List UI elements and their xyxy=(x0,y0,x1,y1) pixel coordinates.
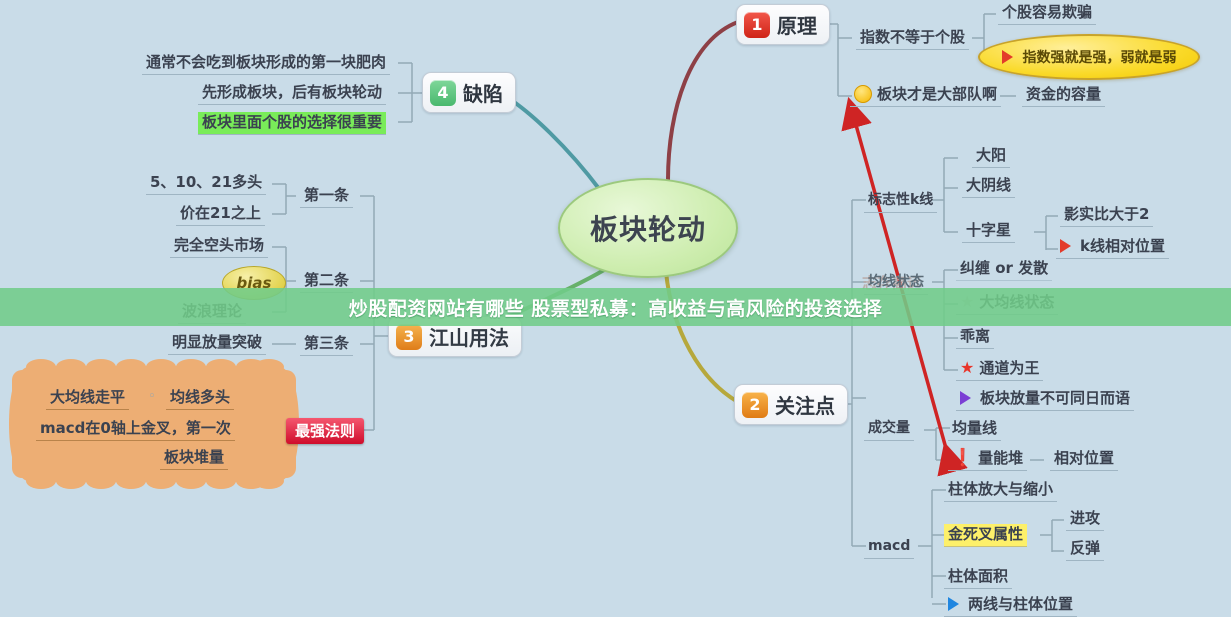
play-triangle-blue-icon xyxy=(948,597,959,611)
branch-principle[interactable]: 1 原理 xyxy=(736,4,830,45)
branch-flaw-label: 缺陷 xyxy=(463,78,503,107)
node-ma-item-3[interactable]: 乖离 xyxy=(956,326,994,349)
node-macd-item-2[interactable]: 金死叉属性 xyxy=(944,524,1027,547)
node-strongest-item-1[interactable]: 大均线走平 xyxy=(46,387,129,410)
mindmap-canvas: 志存高远 板块轮动 1 原理 指数不等于个股 个股容易欺骗 指数强就是强，弱就是… xyxy=(0,0,1231,612)
star-red-icon: ★ xyxy=(960,360,974,376)
node-macd-item-1[interactable]: 柱体放大与缩小 xyxy=(944,479,1057,502)
branch-flaw[interactable]: 4 缺陷 xyxy=(422,72,516,113)
node-ma-item-1[interactable]: 纠缠 or 发散 xyxy=(956,258,1052,281)
node-sector-is-army-label: 板块才是大部队啊 xyxy=(877,84,997,104)
node-kline-relative-position-label: k线相对位置 xyxy=(1080,236,1165,256)
node-strongest-item-4[interactable]: 板块堆量 xyxy=(160,447,228,470)
promo-banner-text: 炒股配资网站有哪些 股票型私募：高收益与高风险的投资选择 xyxy=(349,294,883,321)
node-macd-title[interactable]: macd xyxy=(864,536,914,559)
badge-4: 4 xyxy=(430,80,456,106)
cloud-top-edge xyxy=(26,359,282,375)
node-kline-title[interactable]: 标志性k线 xyxy=(864,190,937,213)
branch-usage-label: 江山用法 xyxy=(429,322,509,351)
play-triangle-red-icon xyxy=(1060,239,1071,253)
node-volume-item-2-label: 量能堆 xyxy=(978,448,1023,468)
play-triangle-red-icon xyxy=(1002,50,1013,64)
node-index-vs-stock[interactable]: 指数不等于个股 xyxy=(856,27,969,50)
connector-dot: ◦ xyxy=(148,389,156,404)
node-ma-item-4-label: 通道为王 xyxy=(979,358,1039,378)
badge-3: 3 xyxy=(396,324,422,350)
node-strongest-rule[interactable]: 最强法则 xyxy=(286,418,364,444)
branch-principle-label: 原理 xyxy=(777,10,817,39)
node-rule1-item-1[interactable]: 5、10、21多头 xyxy=(146,172,266,195)
node-flaw-2[interactable]: 先形成板块，后有板块轮动 xyxy=(198,82,386,105)
node-strongest-item-3[interactable]: macd在0轴上金叉，第一次 xyxy=(36,418,235,441)
node-macd-item-3[interactable]: 柱体面积 xyxy=(944,566,1012,589)
cloud-bottom-edge xyxy=(26,473,282,489)
node-kline-item-2[interactable]: 大阴线 xyxy=(962,175,1015,198)
badge-2: 2 xyxy=(742,392,768,418)
node-kline-relative-position[interactable]: k线相对位置 xyxy=(1056,236,1169,259)
node-volume-item-1[interactable]: 均量线 xyxy=(948,418,1001,441)
play-triangle-purple-icon xyxy=(960,391,971,405)
node-stock-deceives[interactable]: 个股容易欺骗 xyxy=(998,2,1096,25)
node-sector-is-army[interactable]: 板块才是大部队啊 xyxy=(850,84,1001,107)
smiley-face-icon xyxy=(854,85,872,103)
node-rule3-item-1[interactable]: 明显放量突破 xyxy=(168,332,266,355)
node-capital-capacity[interactable]: 资金的容量 xyxy=(1022,84,1105,107)
node-volume-note-label: 板块放量不可同日而语 xyxy=(980,388,1130,408)
node-kline-item-3[interactable]: 十字星 xyxy=(962,220,1015,243)
node-strongest-item-2[interactable]: 均线多头 xyxy=(166,387,234,410)
node-index-strength-label: 指数强就是强，弱就是弱 xyxy=(1023,47,1177,67)
node-flaw-1[interactable]: 通常不会吃到板块形成的第一块肥肉 xyxy=(142,52,390,75)
node-volume-title[interactable]: 成交量 xyxy=(864,418,914,441)
node-macd-rebound[interactable]: 反弹 xyxy=(1066,538,1104,561)
exclamation-purple-icon: ❗ xyxy=(952,450,973,467)
node-macd-item-4-label: 两线与柱体位置 xyxy=(968,594,1073,614)
node-ma-item-4[interactable]: ★ 通道为王 xyxy=(956,358,1043,381)
node-energy-relative-position[interactable]: 相对位置 xyxy=(1050,448,1118,471)
node-index-strength[interactable]: 指数强就是强，弱就是弱 xyxy=(978,34,1200,80)
node-macd-item-4[interactable]: 两线与柱体位置 xyxy=(944,594,1077,617)
node-volume-note[interactable]: 板块放量不可同日而语 xyxy=(956,388,1134,411)
node-macd-attack[interactable]: 进攻 xyxy=(1066,508,1104,531)
node-rule1-item-2[interactable]: 价在21之上 xyxy=(176,203,265,226)
badge-1: 1 xyxy=(744,12,770,38)
node-volume-item-2[interactable]: ❗ 量能堆 xyxy=(948,448,1027,471)
promo-banner: 炒股配资网站有哪些 股票型私募：高收益与高风险的投资选择 xyxy=(0,288,1231,326)
node-shadow-body-ratio[interactable]: 影实比大于2 xyxy=(1060,204,1153,227)
center-node[interactable]: 板块轮动 xyxy=(558,178,738,278)
node-rule-1[interactable]: 第一条 xyxy=(300,185,353,208)
node-rule2-item-1[interactable]: 完全空头市场 xyxy=(170,235,268,258)
node-kline-item-1[interactable]: 大阳 xyxy=(972,145,1010,168)
branch-focus[interactable]: 2 关注点 xyxy=(734,384,848,425)
node-flaw-3[interactable]: 板块里面个股的选择很重要 xyxy=(198,112,386,135)
node-rule-3[interactable]: 第三条 xyxy=(300,333,353,356)
branch-focus-label: 关注点 xyxy=(775,390,835,419)
